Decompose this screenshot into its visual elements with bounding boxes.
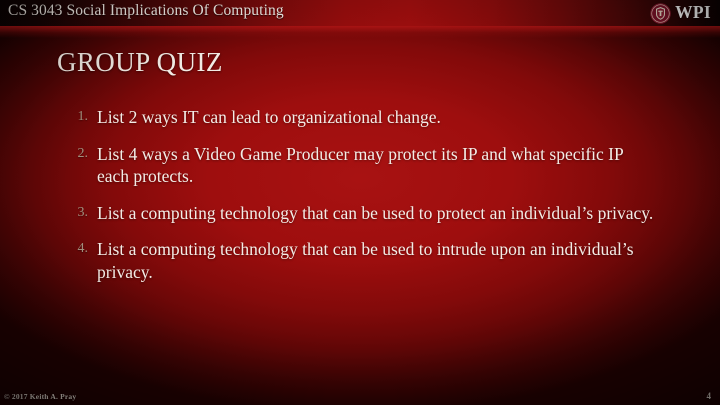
list-item: 4. List a computing technology that can … — [57, 238, 657, 283]
list-item-text: List 2 ways IT can lead to organizationa… — [97, 106, 657, 129]
header-glow-decoration — [0, 26, 720, 38]
list-item-number: 4. — [57, 238, 97, 261]
list-item-number: 2. — [57, 143, 97, 166]
list-item-text: List a computing technology that can be … — [97, 238, 657, 283]
list-item-text: List 4 ways a Video Game Producer may pr… — [97, 143, 657, 188]
presentation-slide: CS 3043 Social Implications Of Computing… — [0, 0, 720, 405]
list-item: 3. List a computing technology that can … — [57, 202, 657, 225]
wpi-seal-icon — [650, 3, 671, 24]
copyright-notice: © 2017 Keith A. Pray — [4, 392, 76, 401]
list-item: 2. List 4 ways a Video Game Producer may… — [57, 143, 657, 188]
wpi-logo: WPI — [650, 1, 711, 25]
slide-number: 4 — [707, 391, 712, 401]
course-title: CS 3043 Social Implications Of Computing — [8, 2, 284, 20]
quiz-question-list: 1. List 2 ways IT can lead to organizati… — [57, 106, 657, 297]
slide-title: GROUP QUIZ — [57, 47, 223, 78]
wpi-wordmark: WPI — [675, 4, 711, 22]
list-item: 1. List 2 ways IT can lead to organizati… — [57, 106, 657, 129]
list-item-text: List a computing technology that can be … — [97, 202, 657, 225]
list-item-number: 3. — [57, 202, 97, 225]
list-item-number: 1. — [57, 106, 97, 129]
